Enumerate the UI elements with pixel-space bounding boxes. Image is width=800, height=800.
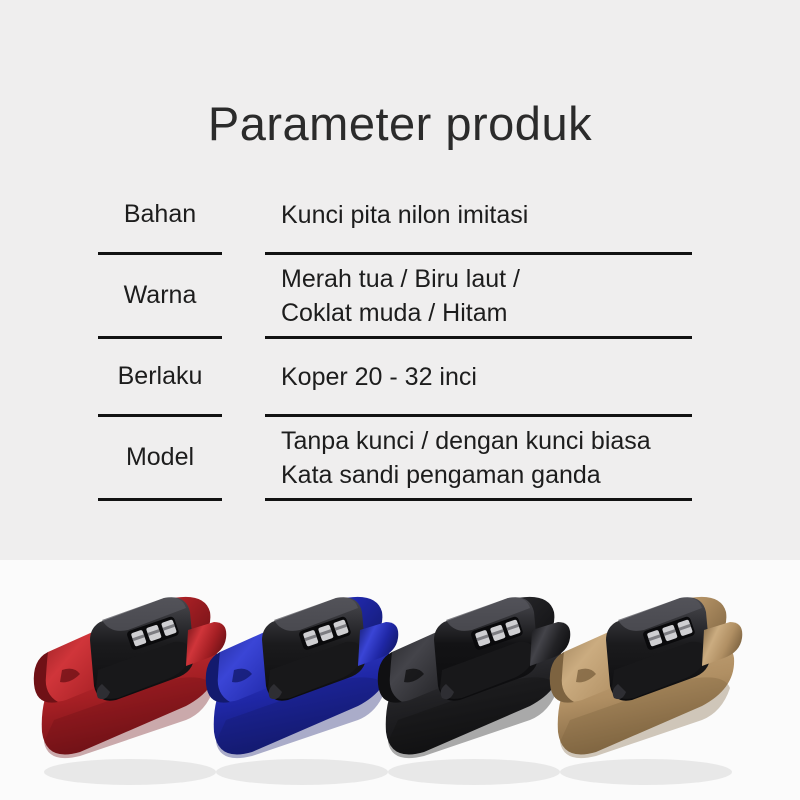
spec-row-berlaku: Berlaku Koper 20 - 32 inci <box>0 344 800 409</box>
spec-row-model: Model Tanpa kunci / dengan kunci biasa K… <box>0 422 800 493</box>
spec-value-warna: Merah tua / Biru laut / Coklat muda / Hi… <box>280 262 800 330</box>
divider-segment-value <box>265 336 692 339</box>
spec-value-line: Kata sandi pengaman ganda <box>281 458 800 492</box>
spec-value-line: Coklat muda / Hitam <box>281 296 800 330</box>
spec-value-line: Tanpa kunci / dengan kunci biasa <box>281 424 800 458</box>
spec-label-bahan: Bahan <box>98 200 280 229</box>
divider-segment-value <box>265 414 692 417</box>
divider-segment-label <box>98 498 222 501</box>
spec-divider-3 <box>0 409 800 422</box>
spec-value-bahan: Kunci pita nilon imitasi <box>280 198 800 232</box>
spec-table: Bahan Kunci pita nilon imitasi Warna Mer… <box>0 182 800 506</box>
spec-row-warna: Warna Merah tua / Biru laut / Coklat mud… <box>0 260 800 331</box>
luggage-strap-black-photo <box>362 560 562 800</box>
divider-segment-value <box>265 498 692 501</box>
product-photo-band <box>0 560 800 800</box>
page-title: Parameter produk <box>0 99 800 148</box>
spec-label-model: Model <box>98 443 280 472</box>
luggage-strap-blue-photo <box>190 560 390 800</box>
spec-row-bahan: Bahan Kunci pita nilon imitasi <box>0 182 800 247</box>
spec-value-model: Tanpa kunci / dengan kunci biasa Kata sa… <box>280 424 800 492</box>
spec-divider-4 <box>0 493 800 506</box>
luggage-strap-tan-photo <box>534 560 734 800</box>
spec-divider-1 <box>0 247 800 260</box>
divider-segment-label <box>98 414 222 417</box>
divider-segment-label <box>98 252 222 255</box>
luggage-strap-red-photo <box>18 560 218 800</box>
divider-segment-label <box>98 336 222 339</box>
drop-shadow <box>560 759 732 785</box>
spec-label-warna: Warna <box>98 281 280 310</box>
spec-value-line: Merah tua / Biru laut / <box>281 262 800 296</box>
divider-segment-value <box>265 252 692 255</box>
spec-divider-2 <box>0 331 800 344</box>
luggage-strap-tan-illustration <box>534 560 764 800</box>
spec-value-line: Kunci pita nilon imitasi <box>281 198 800 232</box>
spec-value-berlaku: Koper 20 - 32 inci <box>280 360 800 394</box>
spec-label-berlaku: Berlaku <box>98 362 280 391</box>
product-parameter-page: Parameter produk Bahan Kunci pita nilon … <box>0 0 800 800</box>
spec-value-line: Koper 20 - 32 inci <box>281 360 800 394</box>
